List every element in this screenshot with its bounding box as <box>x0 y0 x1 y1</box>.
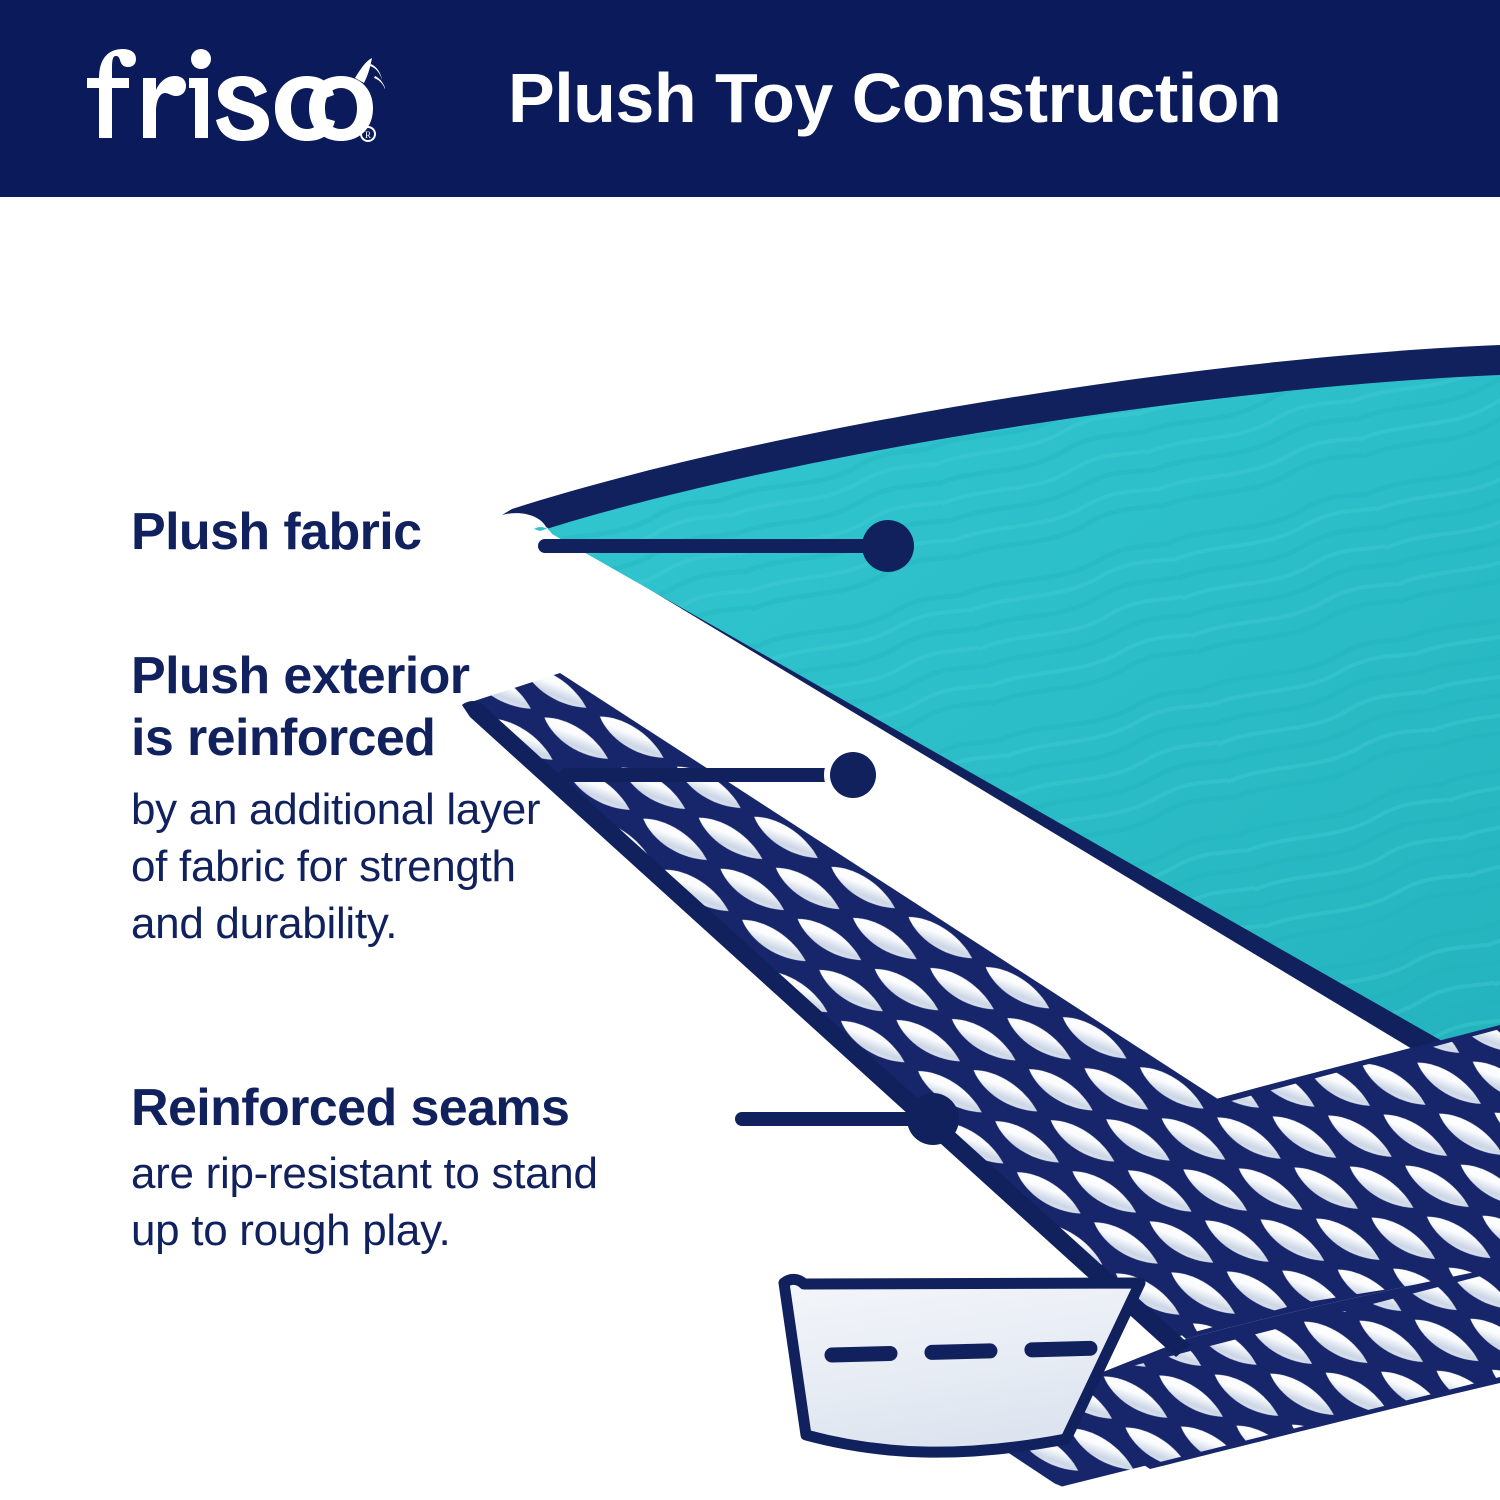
leader-reinforced-seams <box>742 1093 959 1145</box>
callout-heading-reinforced-seams: Reinforced seams <box>131 1077 598 1139</box>
frisco-logo[interactable]: R <box>85 42 385 152</box>
frisco-wordmark-svg: R <box>85 42 385 152</box>
callout-plush-exterior: Plush exterior is reinforced by an addit… <box>131 645 540 952</box>
callout-body-line-2: up to rough play. <box>131 1202 598 1259</box>
header-bar: R Plush Toy Construction <box>0 0 1500 197</box>
svg-text:R: R <box>365 130 371 140</box>
infographic-page: R Plush Toy Construction <box>0 0 1500 1500</box>
callout-heading-line-1: Plush exterior <box>131 645 540 707</box>
callout-body-line-3: and durability. <box>131 895 540 952</box>
callout-body-plush-exterior: by an additional layer of fabric for str… <box>131 781 540 952</box>
callout-reinforced-seams: Reinforced seams are rip-resistant to st… <box>131 1077 598 1259</box>
callout-heading-plush-fabric: Plush fabric <box>131 501 421 563</box>
callout-heading-line-2: is reinforced <box>131 707 540 769</box>
page-title: Plush Toy Construction <box>508 50 1281 146</box>
leader-dot-plush-exterior <box>830 752 876 798</box>
callout-body-line-1: are rip-resistant to stand <box>131 1145 598 1202</box>
callout-body-reinforced-seams: are rip-resistant to stand up to rough p… <box>131 1145 598 1259</box>
stitch-dashes <box>832 1348 1102 1355</box>
leader-dot-plush-fabric <box>862 520 914 572</box>
callout-body-line-2: of fabric for strength <box>131 838 540 895</box>
registered-trademark-icon: R <box>361 127 375 141</box>
callout-body-line-1: by an additional layer <box>131 781 540 838</box>
leader-dot-reinforced-seams <box>907 1093 959 1145</box>
callout-plush-fabric: Plush fabric <box>131 501 421 563</box>
